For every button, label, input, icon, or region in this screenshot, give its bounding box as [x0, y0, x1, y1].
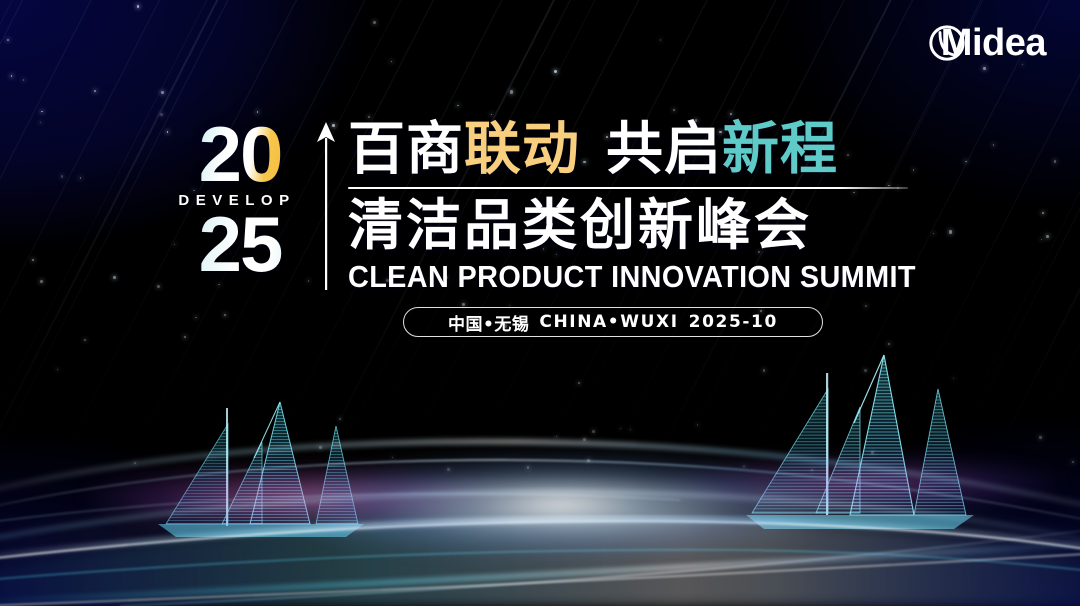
star-speck	[319, 446, 322, 449]
star-speck	[527, 466, 529, 468]
star-speck	[137, 5, 140, 8]
diagonal-light-streaks-bold-icon	[0, 0, 1080, 606]
headline-line-3-english: CLEAN PRODUCT INNOVATION SUMMIT	[348, 259, 916, 295]
wave-glow-pink-right	[658, 458, 1058, 510]
star-speck	[167, 131, 169, 133]
star-speck	[697, 424, 698, 425]
star-speck	[373, 21, 376, 24]
poster-main-content: 20 DEVELOP 25 百商联动共启新程 清洁品类创新峰会 CLEAN PR…	[176, 118, 959, 295]
star-speck	[743, 466, 744, 467]
star-speck	[32, 259, 34, 261]
year-bottom-25: 25	[176, 212, 304, 278]
star-speck	[84, 339, 86, 341]
star-speck	[556, 436, 557, 437]
star-speck	[592, 430, 595, 433]
star-speck	[157, 285, 160, 288]
star-speck	[40, 280, 43, 283]
star-speck	[953, 378, 954, 379]
star-speck	[730, 113, 732, 115]
star-speck	[983, 67, 986, 70]
star-speck	[965, 161, 967, 163]
star-speck	[41, 111, 43, 113]
star-speck	[864, 369, 867, 372]
star-speck	[224, 314, 226, 316]
badge-location-cn: 中国•无锡	[448, 310, 529, 335]
star-speck	[160, 113, 163, 116]
star-speck	[1039, 436, 1042, 439]
headline-line-2: 清洁品类创新峰会	[348, 197, 959, 255]
headline-seg-xincheng: 新程	[722, 116, 838, 182]
wave-core-glow	[281, 450, 841, 560]
star-speck	[1046, 235, 1049, 238]
star-speck	[673, 109, 675, 111]
star-speck	[554, 70, 557, 73]
star-speck	[587, 459, 590, 462]
headline-line-1: 百商联动共启新程	[348, 120, 959, 178]
star-speck	[80, 177, 82, 179]
star-speck	[392, 457, 394, 459]
vignette-top-right	[0, 0, 1080, 606]
star-speck	[1022, 64, 1023, 65]
star-speck	[620, 428, 621, 429]
star-speck	[510, 90, 513, 93]
star-speck	[94, 90, 96, 92]
badge-location-en: CHINA•WUXI	[539, 312, 678, 332]
wave-streaks-icon	[0, 376, 1080, 606]
star-speck	[578, 382, 579, 383]
star-speck	[865, 305, 868, 308]
star-speck	[1041, 239, 1042, 240]
year-develop-block: 20 DEVELOP 25	[176, 118, 304, 277]
headline-divider-rule	[348, 187, 908, 189]
year-top-20: 20	[176, 122, 304, 188]
star-speck	[871, 451, 874, 454]
star-speck	[61, 175, 64, 178]
star-speck	[630, 429, 631, 430]
star-speck	[811, 469, 813, 471]
star-speck	[888, 343, 890, 345]
star-speck	[391, 61, 392, 62]
star-speck	[23, 79, 25, 81]
vignette-bottom-right	[0, 0, 1080, 606]
star-field	[0, 0, 1080, 606]
sailboat-line-art-left-icon	[150, 388, 380, 548]
midea-wordmark: Midea	[941, 24, 1046, 62]
star-speck	[195, 317, 196, 318]
vignette-top-left	[0, 0, 1080, 606]
star-speck	[457, 105, 458, 106]
midea-logo[interactable]: Midea	[926, 22, 1046, 64]
headline-seg-baishang: 百商	[348, 116, 464, 182]
star-speck	[993, 144, 994, 145]
star-speck	[7, 39, 9, 41]
star-speck	[1042, 212, 1044, 214]
headline-seg-liandong: 联动	[464, 116, 580, 182]
sailboat-line-art-right-icon	[742, 345, 992, 545]
star-speck	[40, 122, 41, 123]
star-speck	[763, 369, 766, 372]
star-speck	[339, 418, 342, 421]
star-speck	[57, 369, 58, 370]
star-speck	[462, 303, 465, 306]
star-speck	[184, 336, 186, 338]
headline-block: 百商联动共启新程 清洁品类创新峰会 CLEAN PRODUCT INNOVATI…	[348, 118, 959, 295]
star-speck	[1072, 461, 1075, 464]
vignette-bottom-left	[0, 0, 1080, 606]
star-speck	[161, 91, 164, 94]
date-location-badge: 中国•无锡 CHINA•WUXI 2025-10	[403, 307, 823, 337]
star-speck	[660, 39, 662, 41]
arrow-up-icon	[315, 122, 337, 294]
event-poster: Midea 20 DEVELOP 25 百商联动共启新程 清洁品类创新峰会 CL…	[0, 0, 1080, 606]
star-speck	[113, 276, 116, 279]
sailboat-decor	[0, 0, 1080, 606]
diagonal-light-streaks-icon	[0, 0, 1080, 606]
star-speck	[447, 468, 450, 471]
star-speck	[583, 438, 586, 441]
badge-date: 2025-10	[689, 312, 778, 332]
flowing-light-waves	[0, 376, 1080, 606]
wave-glow-pink-left	[86, 466, 506, 528]
star-speck	[11, 75, 12, 76]
star-speck	[134, 462, 136, 464]
star-speck	[1054, 160, 1056, 162]
headline-seg-gongqi: 共启	[606, 116, 722, 182]
arrow-divider-column	[304, 118, 348, 294]
date-badge-wrapper: 中国•无锡 CHINA•WUXI 2025-10	[403, 307, 823, 337]
